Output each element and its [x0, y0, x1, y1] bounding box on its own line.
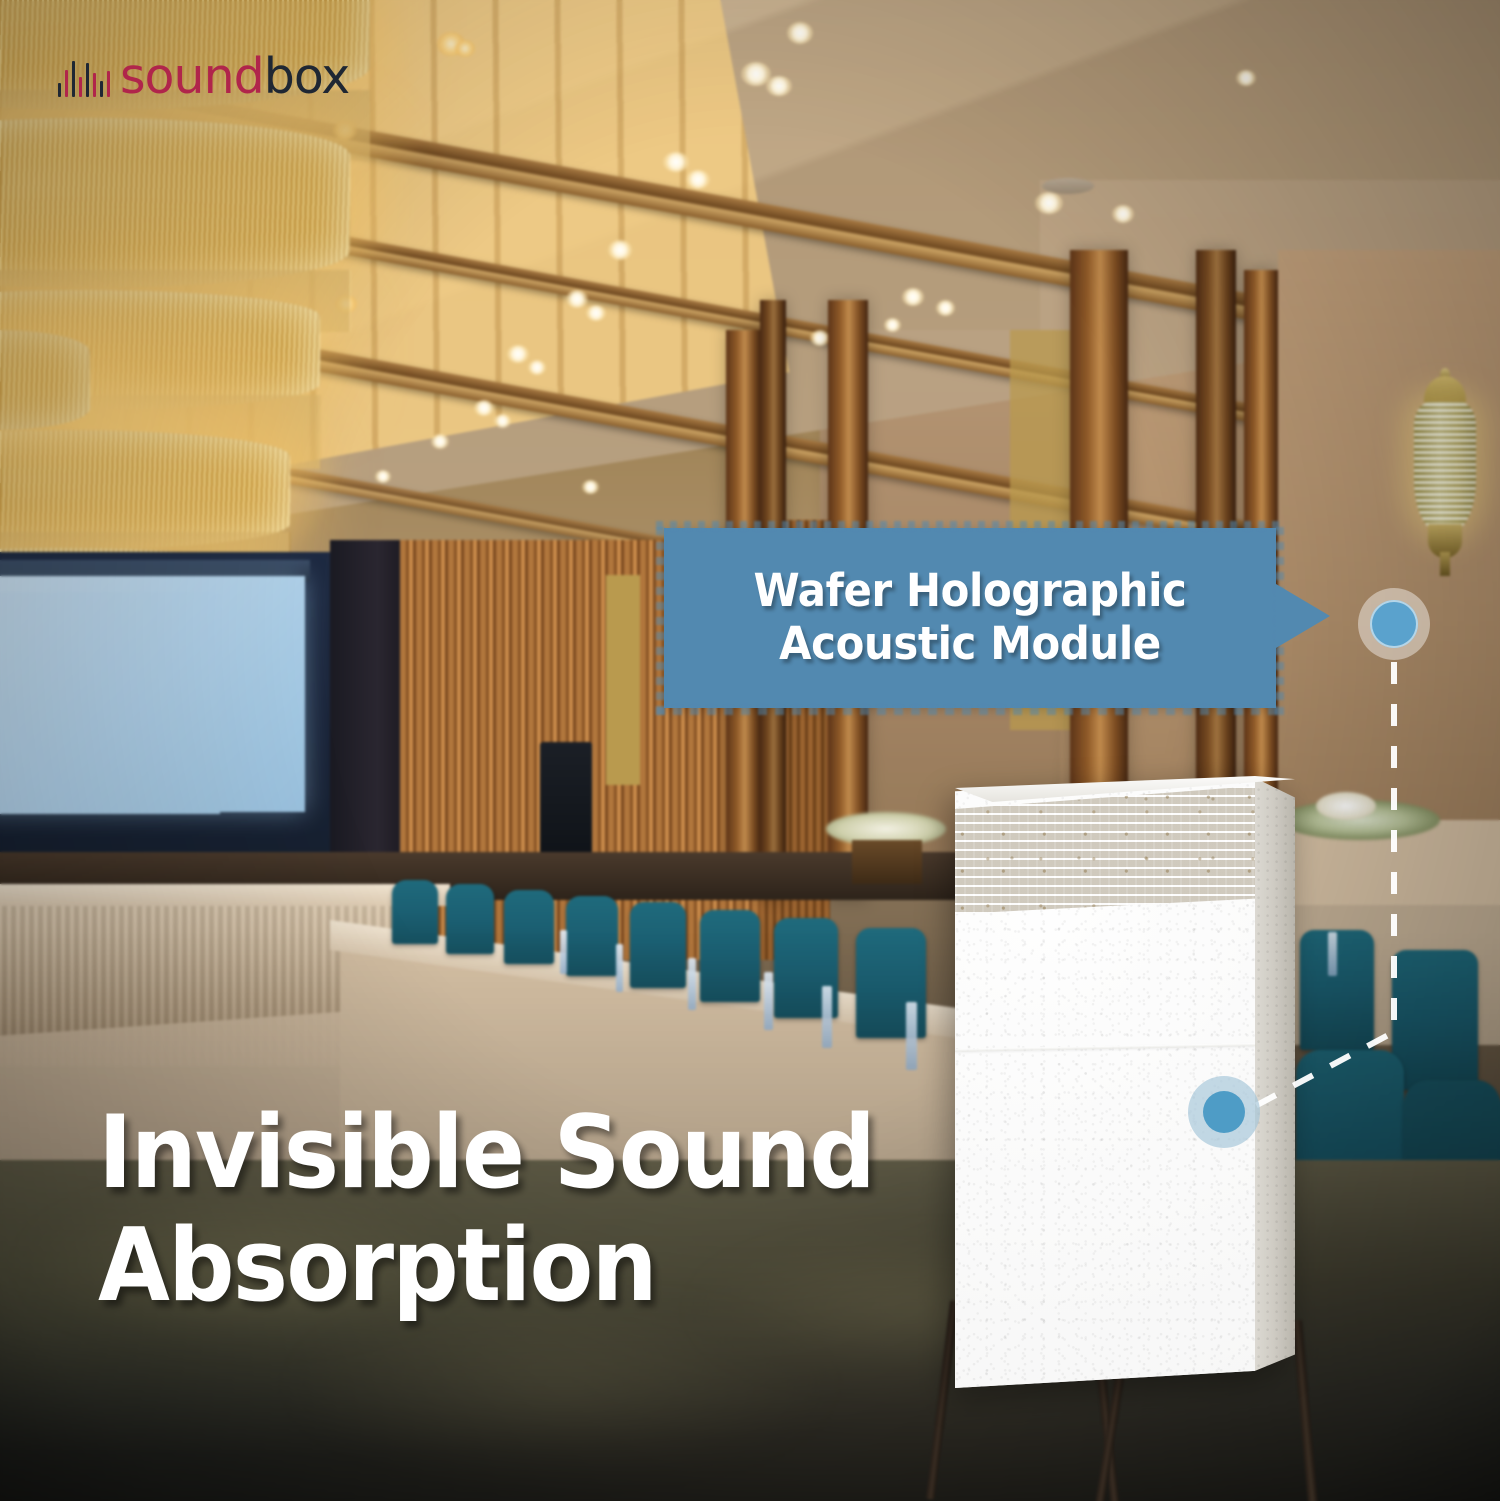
callout-line-1: Wafer Holographic: [753, 566, 1186, 617]
hotspot-top[interactable]: [1358, 588, 1430, 660]
callout-line-2: Acoustic Module: [779, 619, 1161, 670]
product-callout[interactable]: Wafer Holographic Acoustic Module: [664, 528, 1276, 708]
callout-text: Wafer Holographic Acoustic Module: [685, 528, 1254, 708]
headline-line-2: Absorption: [98, 1209, 874, 1322]
product-marketing-poster: soundbox Wafer Holographic Acoustic Modu…: [0, 0, 1500, 1501]
hotspot-dot-icon: [1203, 1091, 1245, 1133]
headline-line-1: Invisible Sound: [98, 1093, 874, 1211]
hotspot-bottom[interactable]: [1188, 1076, 1260, 1148]
brand-logo[interactable]: soundbox: [58, 52, 349, 101]
page-title: Invisible Sound Absorption: [98, 1096, 874, 1322]
callout-pointer: [1276, 584, 1330, 648]
panel-side-edge-texture: [1255, 778, 1295, 1388]
sound-wave-bars-icon: [58, 57, 110, 101]
hotspot-dot-icon: [1370, 600, 1418, 648]
logo-word-box: box: [264, 48, 350, 105]
logo-word-sound: sound: [120, 48, 264, 105]
logo-wordmark: soundbox: [120, 52, 349, 101]
